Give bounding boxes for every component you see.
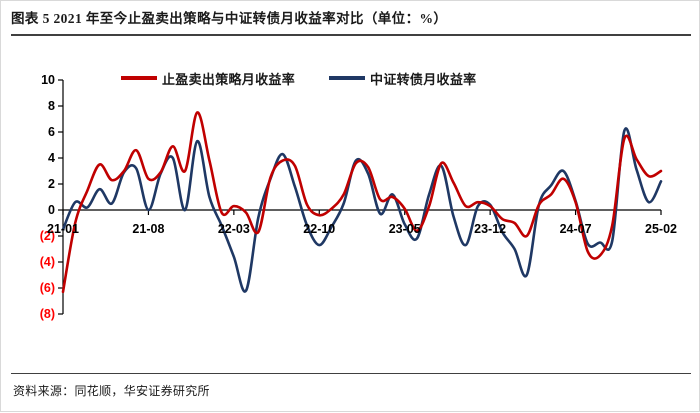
- x-axis-label: 23-12: [474, 222, 506, 236]
- y-axis-label: (4): [15, 255, 55, 269]
- x-axis-label: 22-10: [303, 222, 335, 236]
- y-axis-label: (8): [15, 307, 55, 321]
- chart-legend: 止盈卖出策略月收益率 中证转债月收益率: [121, 67, 581, 89]
- x-axis-label: 21-08: [132, 222, 164, 236]
- y-axis-label: (6): [15, 281, 55, 295]
- series-line-benchmark: [63, 128, 661, 291]
- x-axis-label: 22-03: [218, 222, 250, 236]
- y-axis-label: 6: [15, 125, 55, 139]
- line-chart-svg: [1, 1, 700, 413]
- y-axis-label: (2): [15, 229, 55, 243]
- series-line-strategy: [63, 112, 661, 291]
- title-block: 图表 5 2021 年至今止盈卖出策略与中证转债月收益率对比（单位：%）: [11, 9, 691, 37]
- figure-container: 图表 5 2021 年至今止盈卖出策略与中证转债月收益率对比（单位：%） 止盈卖…: [0, 0, 700, 412]
- legend-label-strategy: 止盈卖出策略月收益率: [162, 69, 295, 88]
- y-axis-label: 10: [15, 73, 55, 87]
- x-axis-label: 25-02: [645, 222, 677, 236]
- x-axis-label: 24-07: [560, 222, 592, 236]
- legend-swatch-strategy: [121, 76, 157, 80]
- series-layer: [63, 112, 661, 291]
- legend-item-strategy: 止盈卖出策略月收益率: [121, 69, 295, 88]
- y-axis-label: 2: [15, 177, 55, 191]
- source-note: 资料来源：同花顺，华安证券研究所: [13, 382, 210, 399]
- footer-divider: [11, 373, 691, 374]
- x-axis-label: 23-05: [389, 222, 421, 236]
- page-title: 图表 5 2021 年至今止盈卖出策略与中证转债月收益率对比（单位：%）: [11, 9, 691, 29]
- y-axis-label: 4: [15, 151, 55, 165]
- plot-area: 1086420(2)(4)(6)(8) 21-0121-0822-0322-10…: [1, 1, 700, 413]
- y-axis-label: 0: [15, 203, 55, 217]
- title-divider: [11, 34, 691, 36]
- axes-layer: [58, 80, 661, 314]
- x-axis-label: 21-01: [47, 222, 79, 236]
- legend-item-benchmark: 中证转债月收益率: [329, 69, 476, 88]
- y-axis-label: 8: [15, 99, 55, 113]
- legend-label-benchmark: 中证转债月收益率: [370, 69, 476, 88]
- legend-swatch-benchmark: [329, 76, 365, 80]
